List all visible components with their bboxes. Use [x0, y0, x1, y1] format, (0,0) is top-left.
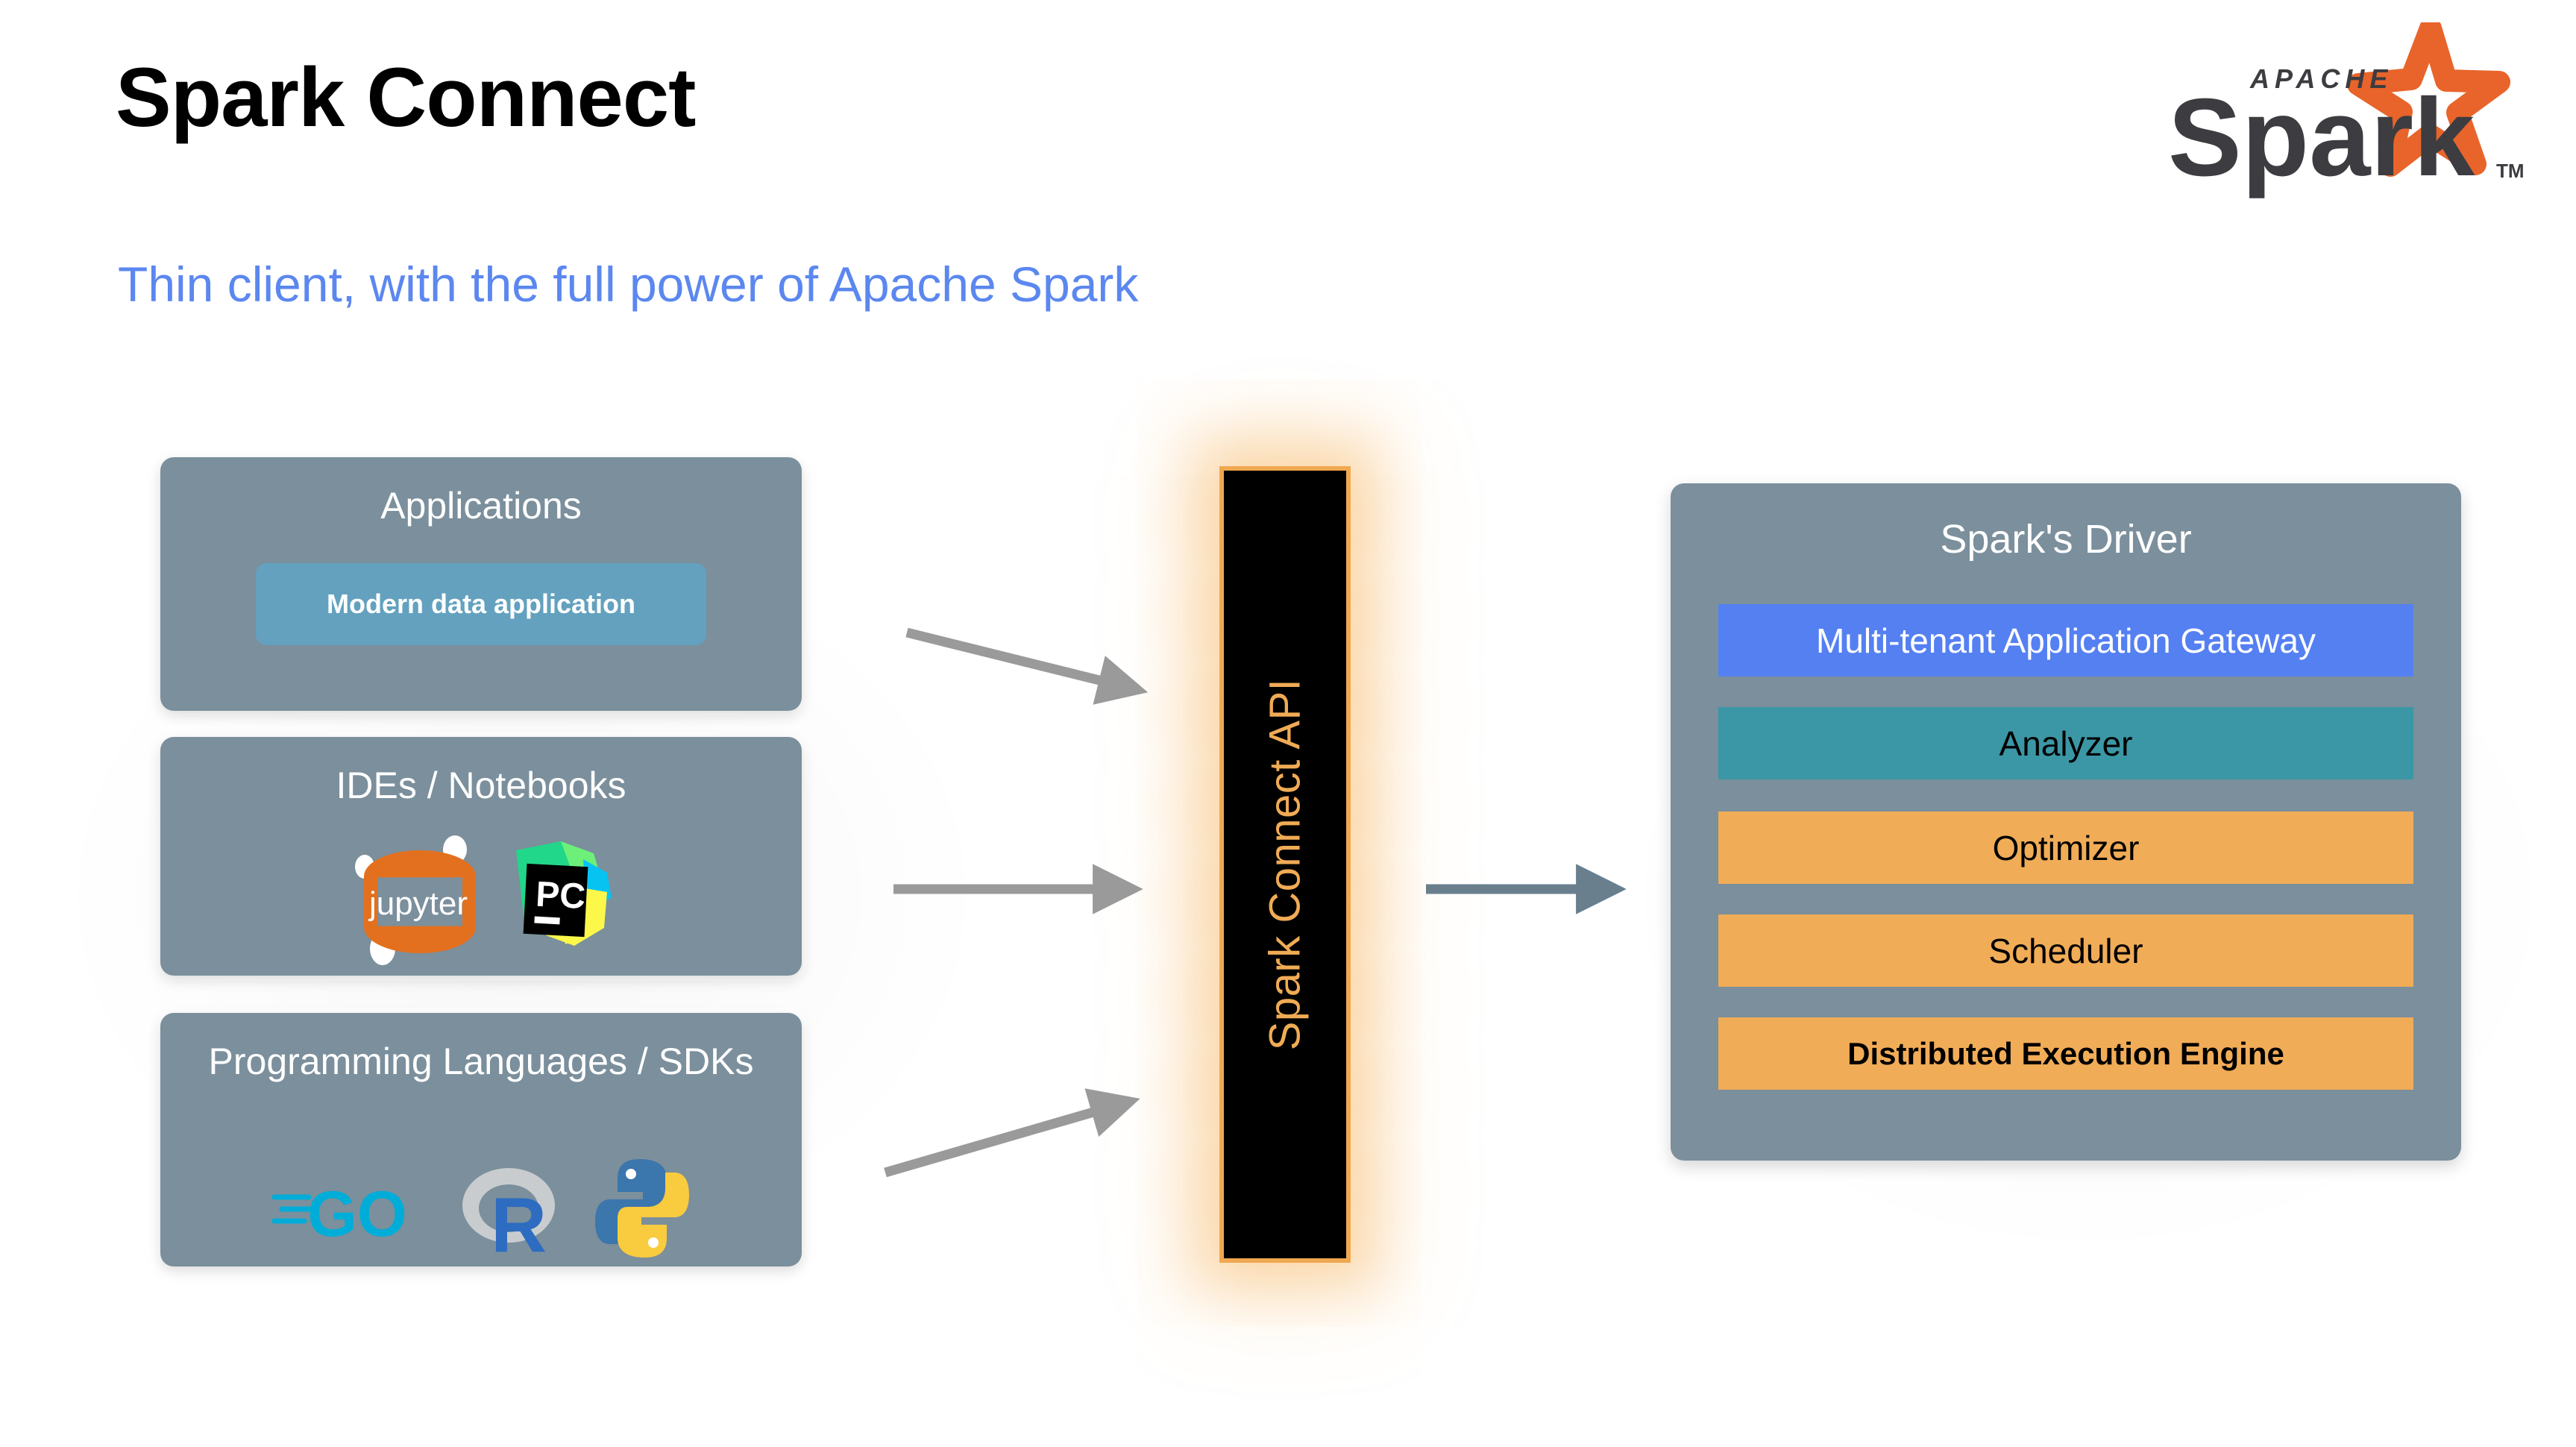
golang-logo: GO — [271, 1167, 428, 1249]
driver-component-scheduler[interactable]: Scheduler — [1718, 914, 2413, 987]
panel-title-programming-languages: Programming Languages / SDKs — [160, 1041, 802, 1082]
panel-applications[interactable]: Applications Modern data application — [160, 457, 802, 711]
language-icon-row: GO R — [160, 1156, 802, 1261]
r-lang-letter: R — [491, 1182, 547, 1261]
driver-component-gateway[interactable]: Multi-tenant Application Gateway — [1718, 604, 2413, 677]
driver-component-analyzer[interactable]: Analyzer — [1718, 707, 2413, 779]
panel-ides-notebooks[interactable]: IDEs / Notebooks jupyter PC — [160, 737, 802, 976]
svg-text:Spark: Spark — [2168, 76, 2475, 199]
spark-connect-api-label: Spark Connect API — [1260, 679, 1310, 1051]
modern-data-application-box[interactable]: Modern data application — [256, 563, 706, 645]
panel-title-ides-notebooks: IDEs / Notebooks — [160, 765, 802, 806]
svg-text:PC: PC — [535, 875, 586, 917]
page-title: Spark Connect — [116, 56, 695, 139]
python-logo — [594, 1156, 691, 1261]
r-lang-logo: R — [455, 1156, 567, 1261]
panel-programming-languages[interactable]: Programming Languages / SDKs GO R — [160, 1013, 802, 1266]
ide-icon-row: jupyter PC — [160, 825, 802, 967]
jupyter-logo: jupyter — [348, 825, 489, 967]
svg-text:TM: TM — [2496, 160, 2525, 182]
page-subtitle: Thin client, with the full power of Apac… — [118, 260, 1138, 309]
apache-spark-logo: APACHE Spark TM — [2162, 22, 2535, 216]
spark-driver-panel[interactable]: Spark's Driver Multi-tenant Application … — [1671, 483, 2461, 1161]
spark-connect-api-bar[interactable]: Spark Connect API — [1219, 466, 1351, 1263]
driver-component-optimizer[interactable]: Optimizer — [1718, 812, 2413, 884]
pycharm-logo: PC — [503, 840, 615, 952]
spark-driver-title: Spark's Driver — [1671, 516, 2461, 562]
golang-wordmark: GO — [307, 1178, 407, 1249]
jupyter-wordmark: jupyter — [348, 888, 489, 920]
panel-title-applications: Applications — [160, 486, 802, 527]
driver-component-execution-engine[interactable]: Distributed Execution Engine — [1718, 1017, 2413, 1090]
arrow-languages-to-api — [885, 1109, 1104, 1173]
arrow-applications-to-api — [907, 633, 1111, 683]
